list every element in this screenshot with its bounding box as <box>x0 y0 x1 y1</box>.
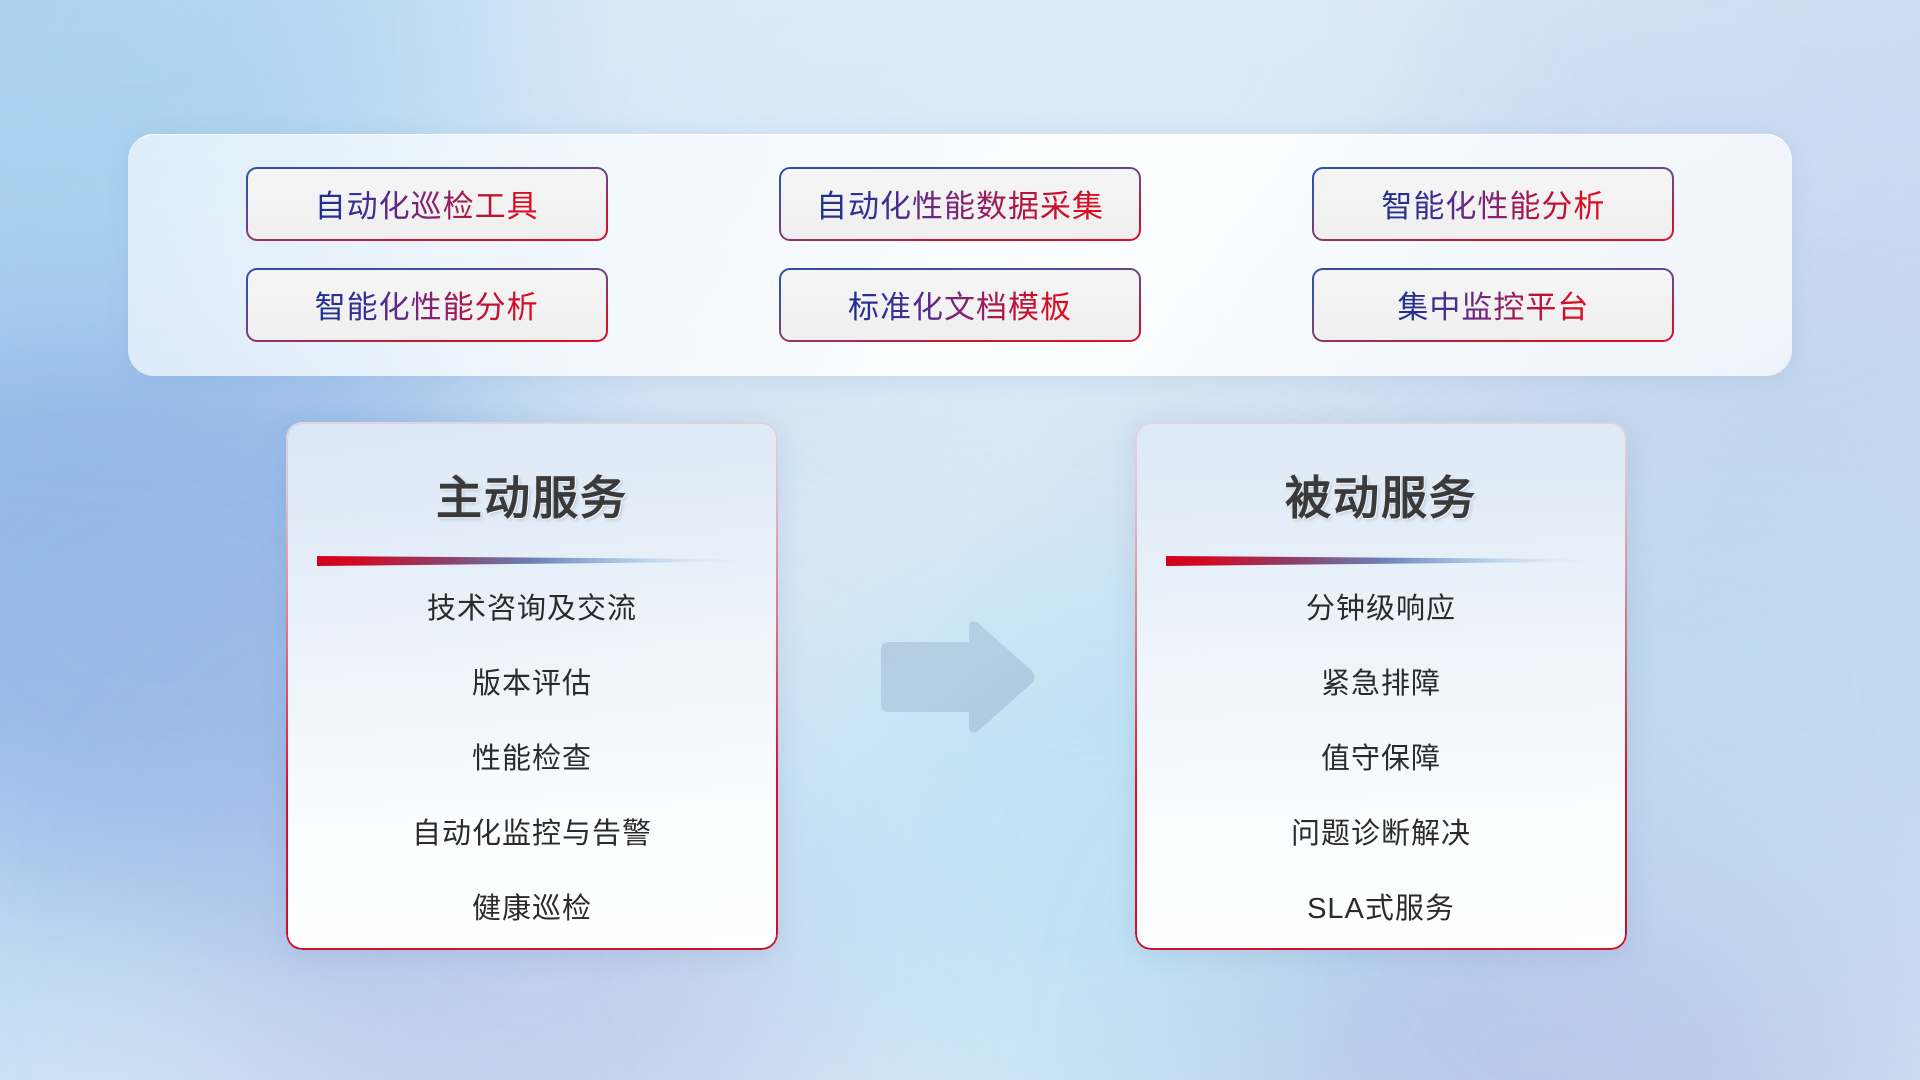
service-item: 健康巡检 <box>286 895 778 924</box>
service-item: 性能检查 <box>286 745 778 774</box>
arrow-right-icon <box>873 618 1037 736</box>
service-item-list: 技术咨询及交流 版本评估 性能检查 自动化监控与告警 健康巡检 <box>286 595 778 924</box>
service-card-reactive: 被动服务 分钟级响应 紧急排障 <box>1135 422 1627 950</box>
capability-tag-2[interactable]: 智能化性能分析 <box>1314 169 1672 239</box>
service-item: 版本评估 <box>286 670 778 699</box>
service-card-title: 主动服务 <box>286 462 778 528</box>
service-item: 问题诊断解决 <box>1135 820 1627 849</box>
service-item: SLA式服务 <box>1135 895 1627 924</box>
title-divider <box>317 554 747 567</box>
service-item-list: 分钟级响应 紧急排障 值守保障 问题诊断解决 SLA式服务 <box>1135 595 1627 924</box>
service-item: 紧急排障 <box>1135 670 1627 699</box>
capability-tag-0[interactable]: 自动化巡检工具 <box>248 169 606 239</box>
capability-tag-label: 自动化巡检工具 <box>315 181 539 226</box>
capability-tag-5[interactable]: 集中监控平台 <box>1314 270 1672 340</box>
service-card-proactive: 主动服务 技术咨询及交流 版本评估 <box>286 422 778 950</box>
service-item: 分钟级响应 <box>1135 595 1627 624</box>
capability-tag-label: 智能化性能分析 <box>315 282 539 327</box>
capabilities-panel: 自动化巡检工具 自动化性能数据采集 智能化性能分析 智能化性能分析 标准化文档模… <box>128 134 1792 376</box>
capability-tag-label: 智能化性能分析 <box>1381 181 1605 226</box>
capability-tag-label: 标准化文档模板 <box>848 282 1072 327</box>
capability-tag-4[interactable]: 标准化文档模板 <box>781 270 1139 340</box>
diagram-stage: 自动化巡检工具 自动化性能数据采集 智能化性能分析 智能化性能分析 标准化文档模… <box>0 0 1920 1080</box>
capability-tag-1[interactable]: 自动化性能数据采集 <box>781 169 1139 239</box>
capability-tag-label: 自动化性能数据采集 <box>816 181 1104 226</box>
service-item: 值守保障 <box>1135 745 1627 774</box>
capability-tag-label: 集中监控平台 <box>1397 282 1589 327</box>
title-divider <box>1166 554 1596 567</box>
service-item: 技术咨询及交流 <box>286 595 778 624</box>
service-card-title: 被动服务 <box>1135 462 1627 528</box>
capability-tag-3[interactable]: 智能化性能分析 <box>248 270 606 340</box>
service-item: 自动化监控与告警 <box>286 820 778 849</box>
